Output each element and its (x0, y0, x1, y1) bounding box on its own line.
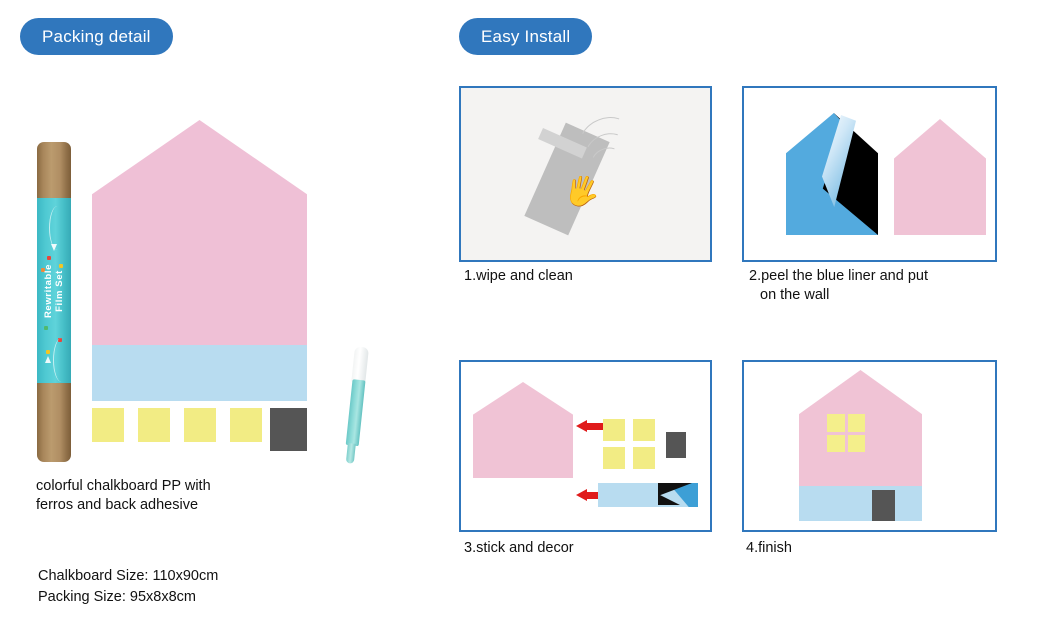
label-dot-yellow-2 (46, 350, 50, 354)
step-2-caption: 2.peel the blue liner and put on the wal… (749, 267, 994, 305)
step-2-caption-line-1: 2.peel the blue liner and put (749, 268, 928, 284)
marker-pen (343, 346, 369, 463)
step3-yellow-square-3 (603, 447, 625, 469)
step3-peel-corner-lower (658, 494, 680, 505)
step-1-caption: 1.wipe and clean (464, 267, 709, 286)
packing-tube-label-text: Rewritable Film Set (43, 263, 65, 317)
step3-yellow-square-2 (633, 419, 655, 441)
chalkboard-size-text: Chalkboard Size: 110x90cm (38, 568, 218, 584)
product-yellow-chip-3 (184, 408, 216, 442)
product-yellow-chip-4 (230, 408, 262, 442)
step-3-panel (459, 360, 712, 532)
label-dot-green (44, 326, 48, 330)
pink-house-sheet-step2 (894, 119, 986, 235)
marker-pen-tip (346, 443, 356, 464)
product-description-caption: colorful chalkboard PP with ferros and b… (36, 477, 286, 515)
product-caption-line-1: colorful chalkboard PP with (36, 478, 211, 494)
window-pane-2 (848, 414, 866, 432)
tube-label-line-1: Rewritable (43, 263, 54, 317)
packing-size-text: Packing Size: 95x8x8cm (38, 589, 196, 605)
marker-pen-cap (351, 346, 369, 383)
step-3-caption: 3.stick and decor (464, 539, 709, 558)
label-swoosh-bottom-icon (53, 338, 70, 382)
arrow-head-2 (576, 489, 587, 501)
step-1-panel: 🖐 (459, 86, 712, 262)
step-1-caption-line-1: 1.wipe and clean (464, 268, 573, 284)
section-badge-easy-install: Easy Install (459, 18, 592, 55)
finished-house-window-icon (827, 414, 865, 452)
finished-house-door (872, 490, 895, 521)
step-4-panel (742, 360, 997, 532)
product-dark-door-chip (270, 408, 307, 451)
product-yellow-chip-1 (92, 408, 124, 442)
finished-house-blue-base (799, 486, 922, 521)
step-2-panel (742, 86, 997, 262)
packing-tube-label: Rewritable Film Set (37, 198, 71, 383)
size-specification-block: Chalkboard Size: 110x90cm Packing Size: … (38, 566, 318, 608)
label-tick-bottom-icon (45, 356, 51, 363)
label-dot-red (47, 256, 51, 260)
window-pane-3 (827, 435, 845, 453)
pink-house-sheet-step3 (473, 382, 573, 478)
step-2-caption-line-2: on the wall (749, 286, 994, 305)
window-pane-1 (827, 414, 845, 432)
step-4-caption: 4.finish (746, 539, 991, 558)
step3-dark-square (666, 432, 686, 458)
product-pink-house-sheet (92, 120, 307, 345)
section-badge-packing-detail: Packing detail (20, 18, 173, 55)
window-pane-4 (848, 435, 866, 453)
marker-pen-body (345, 379, 365, 446)
tube-label-line-2: Film Set (54, 270, 65, 312)
product-blue-band-sheet (92, 345, 307, 401)
step-3-caption-line-1: 3.stick and decor (464, 540, 574, 556)
product-yellow-chip-2 (138, 408, 170, 442)
infographic-canvas: Packing detail Easy Install Rewritable F… (0, 0, 1041, 619)
step3-yellow-square-1 (603, 419, 625, 441)
step-4-caption-line-1: 4.finish (746, 540, 792, 556)
product-caption-line-2: ferros and back adhesive (36, 497, 198, 513)
arrow-head (576, 420, 587, 432)
step3-yellow-square-4 (633, 447, 655, 469)
label-tick-top-icon (51, 244, 57, 251)
